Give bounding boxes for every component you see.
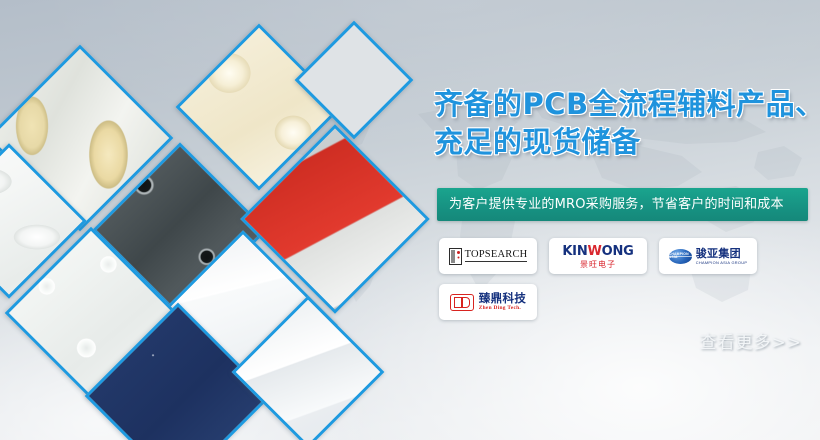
logo-topsearch[interactable]: TOPSEARCH bbox=[439, 238, 537, 274]
zhen-ding-en-name: Zhen Ding Tech. bbox=[479, 306, 527, 311]
tile-image-rolls bbox=[176, 24, 343, 191]
champion-en-name: CHAMPION ASIA GROUP bbox=[696, 261, 748, 265]
logo-zhen-ding[interactable]: 臻鼎科技 Zhen Ding Tech. bbox=[439, 284, 537, 320]
kinwong-cn-name: 景旺电子 bbox=[562, 261, 633, 269]
headline-line-2: 充足的现货储备 bbox=[434, 124, 820, 162]
collage-tile-ivory-plastic-rolls bbox=[176, 24, 343, 191]
zhen-ding-zd-icon bbox=[450, 294, 474, 311]
tile-image-tubes bbox=[5, 227, 178, 400]
tile-image-brown bbox=[295, 21, 414, 140]
partner-logo-grid: TOPSEARCH KINWONG 景旺电子 CHAMPION ASIA 骏亚集… bbox=[439, 238, 809, 320]
banner-content: 齐备的PCB全流程辅料产品、 充足的现货储备 为客户提供专业的MRO采购服务，节… bbox=[425, 0, 820, 440]
collage-tile-jie-film-sheet: JIE bbox=[148, 230, 338, 420]
globe-inner-text: CHAMPION ASIA bbox=[669, 253, 692, 260]
collage-tile-white-paper-roll bbox=[0, 143, 87, 299]
zhen-ding-cn-name: 臻鼎科技 bbox=[479, 293, 527, 305]
subtitle-bar: 为客户提供专业的MRO采购服务，节省客户的时间和成本 bbox=[437, 188, 808, 221]
tile-label-text: JIE bbox=[184, 328, 208, 345]
promo-banner: JIE 齐备的PCB全流程辅料产品、 充足的现货储备 为客户提供专业的MRO采购… bbox=[0, 0, 820, 440]
kinwong-text-mid: W bbox=[588, 244, 602, 259]
headline: 齐备的PCB全流程辅料产品、 充足的现货储备 bbox=[434, 86, 820, 161]
champion-cn-name: 骏亚集团 bbox=[696, 248, 748, 259]
topsearch-wordmark: TOPSEARCH bbox=[465, 250, 528, 263]
logo-champion-asia[interactable]: CHAMPION ASIA 骏亚集团 CHAMPION ASIA GROUP bbox=[659, 238, 757, 274]
tile-image-navy bbox=[85, 303, 272, 440]
tile-image-sheets bbox=[240, 124, 430, 314]
collage-tile-grinding-wheels bbox=[92, 142, 267, 317]
logo-kinwong[interactable]: KINWONG 景旺电子 bbox=[549, 238, 647, 274]
tile-image-stack bbox=[232, 296, 385, 440]
kinwong-wordmark: KINWONG bbox=[562, 244, 633, 259]
collage-tile-white-sheet-stack bbox=[232, 296, 385, 440]
collage-tile-protective-tape-rolls bbox=[0, 45, 173, 232]
collage-tile-white-tube-rolls bbox=[5, 227, 178, 400]
collage-tile-brown-edge bbox=[295, 21, 414, 140]
kinwong-text-right: ONG bbox=[602, 244, 634, 259]
tile-image-label: JIE bbox=[148, 230, 338, 420]
kinwong-text-left: KIN bbox=[562, 244, 587, 259]
product-collage: JIE bbox=[0, 0, 430, 440]
champion-asia-globe-icon: CHAMPION ASIA bbox=[669, 249, 692, 264]
topsearch-badge-icon bbox=[449, 248, 462, 265]
collage-tile-navy-film-sheet bbox=[85, 303, 272, 440]
headline-line-1: 齐备的PCB全流程辅料产品、 bbox=[434, 86, 820, 124]
tile-image-tape bbox=[0, 45, 173, 232]
view-more-link[interactable]: 查看更多>> bbox=[700, 335, 803, 352]
tile-image-wheels bbox=[92, 142, 267, 317]
collage-tile-colored-sheet-stack bbox=[240, 124, 430, 314]
subtitle-text: 为客户提供专业的MRO采购服务，节省客户的时间和成本 bbox=[437, 198, 784, 211]
tile-image-white-roll bbox=[0, 143, 87, 299]
